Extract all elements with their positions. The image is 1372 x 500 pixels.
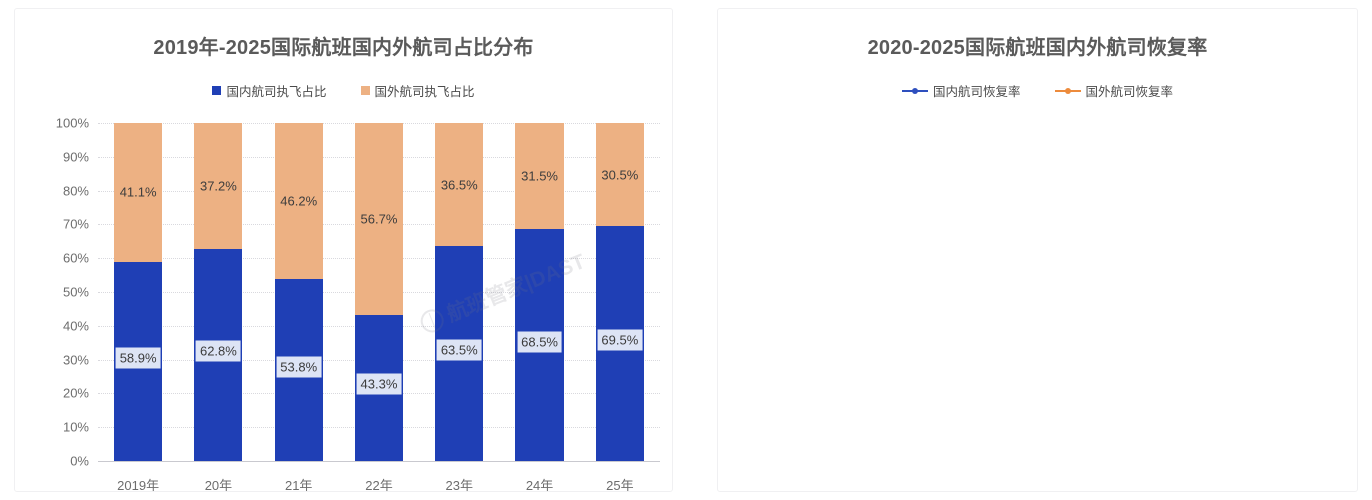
bar-value-label-foreign: 31.5% <box>521 169 558 184</box>
y-axis-tick-label: 60% <box>63 251 89 266</box>
legend-label: 国外航司执飞占比 <box>375 81 475 100</box>
bar-value-label-domestic: 58.9% <box>116 348 161 369</box>
right-chart-legend: 国内航司恢复率国外航司恢复率 <box>718 81 1357 100</box>
stacked-bar-chart-card: 2019年-2025国际航班国内外航司占比分布 国内航司执飞占比国外航司执飞占比… <box>14 8 673 492</box>
legend-swatch-icon <box>212 86 221 95</box>
bar-value-label-foreign: 36.5% <box>441 177 478 192</box>
left-chart-title: 2019年-2025国际航班国内外航司占比分布 <box>15 31 672 60</box>
bar-value-label-domestic: 68.5% <box>517 331 562 352</box>
y-axis-tick-label: 30% <box>63 352 89 367</box>
y-axis-tick-label: 0% <box>70 454 89 469</box>
bar-stack[interactable]: 68.5%31.5% <box>515 123 563 461</box>
bar-value-label-foreign: 37.2% <box>200 178 237 193</box>
left-chart-legend: 国内航司执飞占比国外航司执飞占比 <box>15 81 672 100</box>
x-axis-tick-label: 21年 <box>285 475 312 492</box>
bar-value-label-domestic: 62.8% <box>196 341 241 362</box>
x-axis-tick-label: 20年 <box>205 475 232 492</box>
y-axis-tick-label: 70% <box>63 217 89 232</box>
gridline <box>98 461 660 462</box>
bar-stack[interactable]: 69.5%30.5% <box>596 123 644 461</box>
bar-value-label-foreign: 46.2% <box>280 194 317 209</box>
legend-entry-0[interactable]: 国内航司恢复率 <box>902 81 1021 100</box>
dashboard-page: 2019年-2025国际航班国内外航司占比分布 国内航司执飞占比国外航司执飞占比… <box>0 0 1372 500</box>
bar-value-label-domestic: 53.8% <box>276 356 321 377</box>
bar-value-label-domestic: 63.5% <box>437 340 482 361</box>
legend-label: 国内航司恢复率 <box>933 81 1021 100</box>
legend-label: 国外航司恢复率 <box>1086 81 1174 100</box>
bar-value-label-foreign: 41.1% <box>120 185 157 200</box>
y-axis-tick-label: 40% <box>63 318 89 333</box>
y-axis-tick-label: 90% <box>63 149 89 164</box>
bar-value-label-domestic: 43.3% <box>357 374 402 395</box>
bar-value-label-foreign: 30.5% <box>601 167 638 182</box>
bar-value-label-foreign: 56.7% <box>361 211 398 226</box>
legend-label: 国内航司执飞占比 <box>226 81 326 100</box>
legend-entry-1[interactable]: 国外航司恢复率 <box>1055 81 1174 100</box>
bar-stack[interactable]: 62.8%37.2% <box>194 123 242 461</box>
y-axis-tick-label: 100% <box>56 116 89 131</box>
legend-swatch-icon <box>361 86 370 95</box>
x-axis-tick-label: 22年 <box>365 475 392 492</box>
bar-value-label-domestic: 69.5% <box>597 330 642 351</box>
y-axis-tick-label: 50% <box>63 285 89 300</box>
x-axis-tick-label: 2019年 <box>117 475 159 492</box>
left-chart-plot-area: 0%10%20%30%40%50%60%70%80%90%100%58.9%41… <box>98 123 660 461</box>
x-axis-tick-label: 25年 <box>606 475 633 492</box>
x-axis-tick-label: 24年 <box>526 475 553 492</box>
bar-stack[interactable]: 53.8%46.2% <box>275 123 323 461</box>
line-chart-card: 2020-2025国际航班国内外航司恢复率 国内航司恢复率国外航司恢复率 0%2… <box>717 8 1358 492</box>
y-axis-tick-label: 80% <box>63 183 89 198</box>
x-axis-tick-label: 23年 <box>446 475 473 492</box>
legend-entry-0[interactable]: 国内航司执飞占比 <box>212 81 326 100</box>
bar-stack[interactable]: 43.3%56.7% <box>355 123 403 461</box>
y-axis-tick-label: 20% <box>63 386 89 401</box>
legend-entry-1[interactable]: 国外航司执飞占比 <box>361 81 475 100</box>
legend-line-marker-icon <box>1055 86 1081 95</box>
bar-stack[interactable]: 63.5%36.5% <box>435 123 483 461</box>
bar-stack[interactable]: 58.9%41.1% <box>114 123 162 461</box>
legend-line-marker-icon <box>902 86 928 95</box>
y-axis-tick-label: 10% <box>63 420 89 435</box>
right-chart-title: 2020-2025国际航班国内外航司恢复率 <box>718 31 1357 60</box>
